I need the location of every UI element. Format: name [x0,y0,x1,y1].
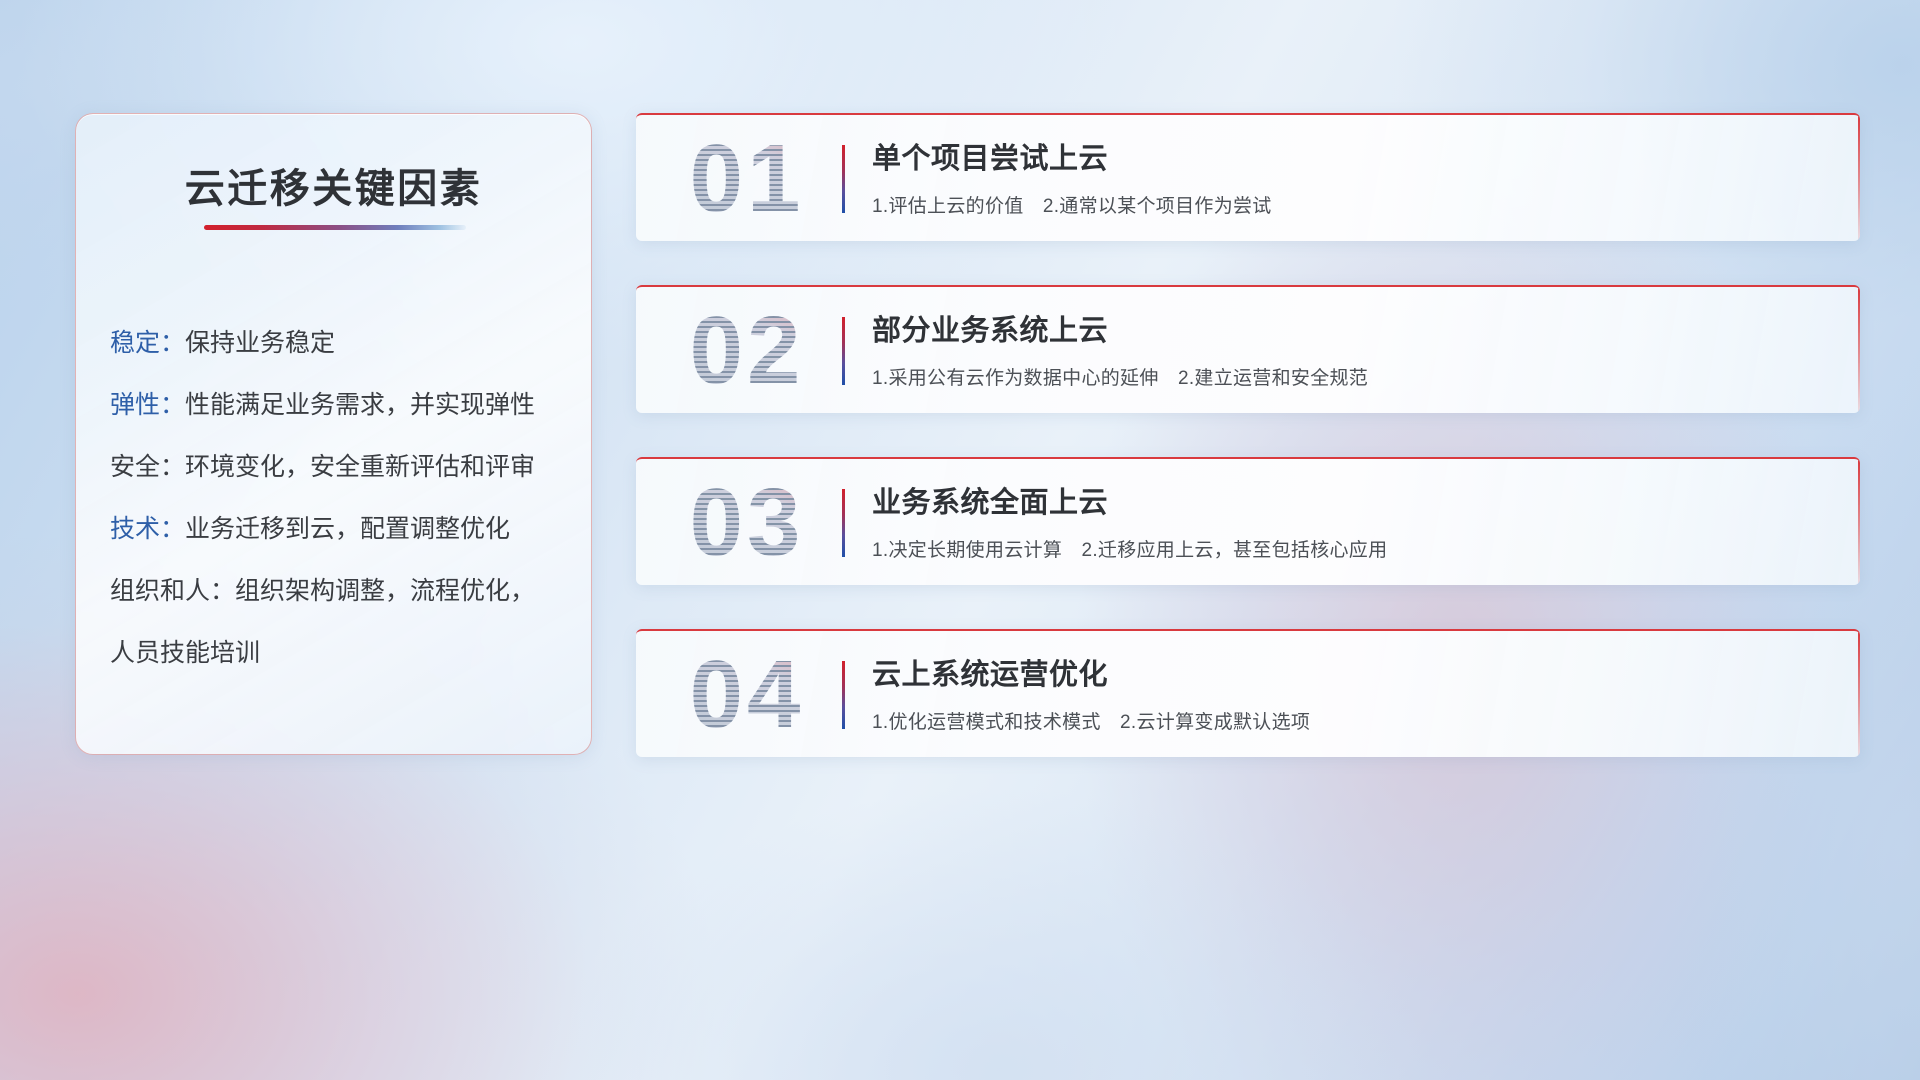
stage-number-watermark: 04 [662,637,832,753]
factor-item: 弹性： 性能满足业务需求，并实现弹性 [76,372,591,434]
factor-key: 安全： [110,447,185,483]
stage-number-text: 04 [690,640,805,750]
stage-number-text: 01 [690,124,805,234]
stage-accent-bar [842,145,845,213]
factor-item: 组织和人： 组织架构调整，流程优化， [76,558,591,620]
stage-card[interactable]: 03 业务系统全面上云 1.决定长期使用云计算 2.迁移应用上云，甚至包括核心应… [636,457,1860,585]
stage-card-body: 部分业务系统上云 1.采用公有云作为数据中心的延伸 2.建立运营和安全规范 [872,307,1830,390]
factor-value: 环境变化，安全重新评估和评审 [185,447,535,483]
stage-title: 云上系统运营优化 [872,651,1830,693]
stage-detail: 1.评估上云的价值 2.通常以某个项目作为尝试 [872,191,1830,218]
factor-item: 安全： 环境变化，安全重新评估和评审 [76,434,591,496]
stage-card[interactable]: 02 部分业务系统上云 1.采用公有云作为数据中心的延伸 2.建立运营和安全规范 [636,285,1860,413]
factor-value: 业务迁移到云，配置调整优化 [185,509,510,545]
stage-title: 业务系统全面上云 [872,479,1830,521]
stage-card-body: 云上系统运营优化 1.优化运营模式和技术模式 2.云计算变成默认选项 [872,651,1830,734]
stage-detail: 1.采用公有云作为数据中心的延伸 2.建立运营和安全规范 [872,363,1830,390]
factor-key: 组织和人： [110,571,235,607]
stage-accent-bar [842,489,845,557]
key-factors-panel: 云迁移关键因素 稳定： 保持业务稳定 弹性： 性能满足业务需求，并实现弹性 安全… [75,113,592,755]
factor-key: 技术： [110,509,185,545]
stage-number-watermark: 02 [662,293,832,409]
panel-title: 云迁移关键因素 [76,156,591,214]
stage-title: 单个项目尝试上云 [872,135,1830,177]
factor-key: 稳定： [110,323,185,359]
factor-item: 稳定： 保持业务稳定 [76,310,591,372]
stage-title: 部分业务系统上云 [872,307,1830,349]
stage-detail: 1.决定长期使用云计算 2.迁移应用上云，甚至包括核心应用 [872,535,1830,562]
stage-card-body: 业务系统全面上云 1.决定长期使用云计算 2.迁移应用上云，甚至包括核心应用 [872,479,1830,562]
factor-list: 稳定： 保持业务稳定 弹性： 性能满足业务需求，并实现弹性 安全： 环境变化，安… [76,310,591,682]
factor-key: 弹性： [110,385,185,421]
stage-number-text: 03 [690,468,805,578]
stage-card[interactable]: 01 单个项目尝试上云 1.评估上云的价值 2.通常以某个项目作为尝试 [636,113,1860,241]
stage-card-body: 单个项目尝试上云 1.评估上云的价值 2.通常以某个项目作为尝试 [872,135,1830,218]
stage-number-watermark: 03 [662,465,832,581]
stage-accent-bar [842,317,845,385]
title-underline-rule [204,225,466,230]
factor-value: 性能满足业务需求，并实现弹性 [185,385,535,421]
stage-number-watermark: 01 [662,121,832,237]
stage-detail: 1.优化运营模式和技术模式 2.云计算变成默认选项 [872,707,1830,734]
factor-continuation: 人员技能培训 [76,620,591,682]
factor-item: 技术： 业务迁移到云，配置调整优化 [76,496,591,558]
stage-accent-bar [842,661,845,729]
stage-card[interactable]: 04 云上系统运营优化 1.优化运营模式和技术模式 2.云计算变成默认选项 [636,629,1860,757]
stage-number-text: 02 [690,296,805,406]
stage-card-list: 01 单个项目尝试上云 1.评估上云的价值 2.通常以某个项目作为尝试 02 部… [636,113,1860,801]
factor-value: 保持业务稳定 [185,323,335,359]
factor-value: 组织架构调整，流程优化， [235,571,535,607]
